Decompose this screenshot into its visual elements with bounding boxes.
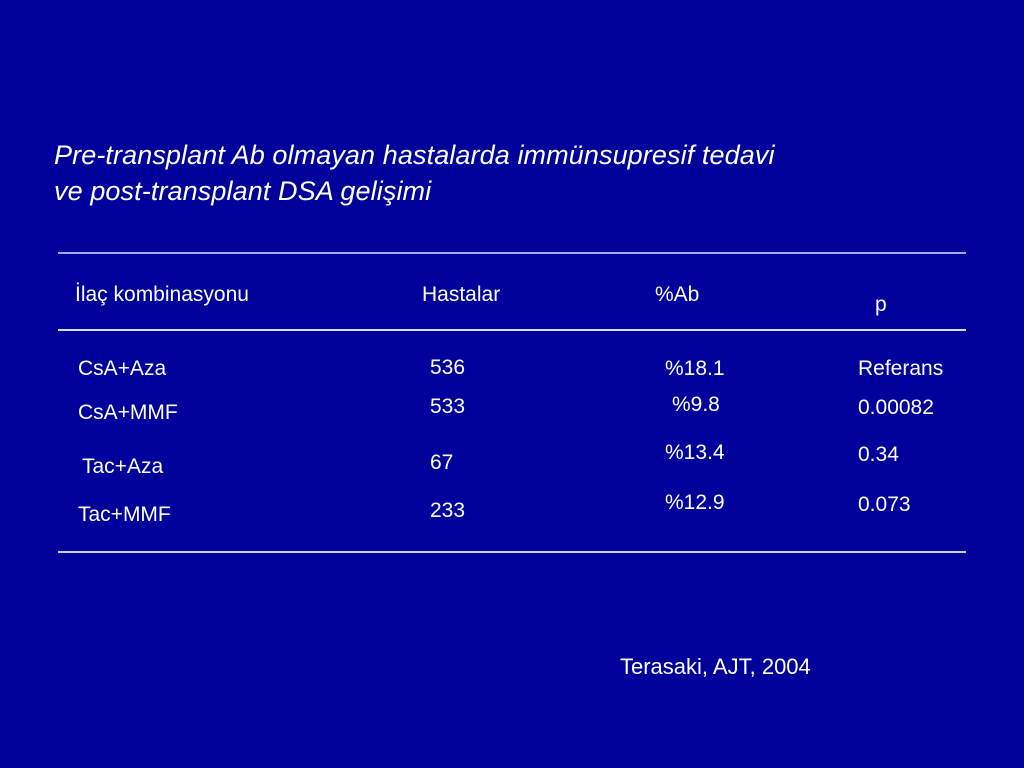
table-row: 0.073 (858, 492, 911, 518)
table-row: %18.1 (665, 356, 725, 382)
table-row: 67 (430, 450, 453, 476)
source-citation: Terasaki, AJT, 2004 (620, 653, 811, 681)
table-row: 536 (430, 355, 465, 381)
table-top-rule (58, 252, 966, 254)
table-row: Referans (858, 356, 943, 382)
table-row: 0.00082 (858, 395, 934, 421)
column-header-patients: Hastalar (422, 282, 500, 308)
table-row: %9.8 (672, 392, 720, 418)
table-bottom-rule (58, 551, 966, 553)
table-row: Tac+MMF (78, 502, 171, 528)
column-header-ab-percent: %Ab (655, 282, 699, 308)
table-header-rule (58, 329, 966, 331)
column-header-drug-combination: İlaç kombinasyonu (75, 282, 249, 308)
table-row: CsA+Aza (78, 356, 166, 382)
table-row: Tac+Aza (82, 454, 163, 480)
results-table: İlaç kombinasyonu Hastalar %Ab p CsA+Aza… (58, 252, 966, 552)
column-header-p-value: p (875, 292, 887, 318)
table-row: CsA+MMF (78, 400, 178, 426)
table-row: 533 (430, 394, 465, 420)
slide-canvas: Pre-transplant Ab olmayan hastalarda imm… (0, 0, 1024, 768)
table-row: 0.34 (858, 442, 899, 468)
table-row: %12.9 (665, 490, 725, 516)
page-title: Pre-transplant Ab olmayan hastalarda imm… (54, 137, 984, 209)
table-row: 233 (430, 498, 465, 524)
table-row: %13.4 (665, 440, 725, 466)
